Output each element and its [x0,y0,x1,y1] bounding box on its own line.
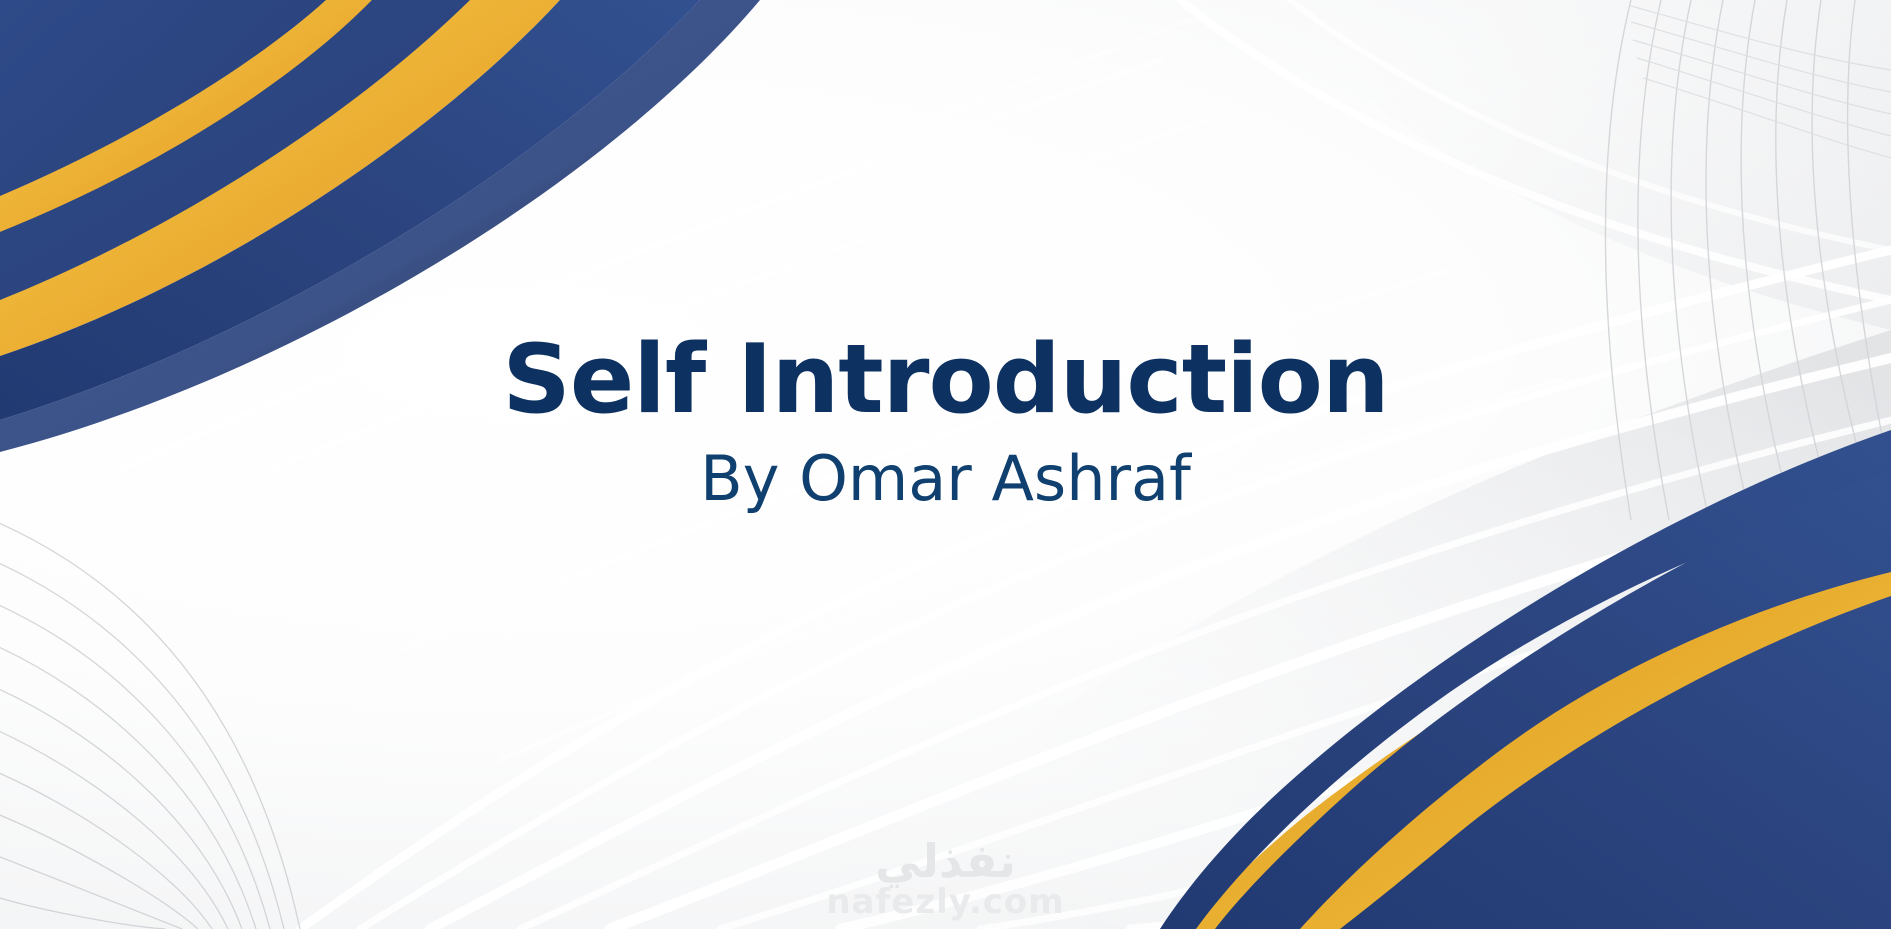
slide-content: Self Introduction By Omar Ashraf [0,330,1891,513]
slide-subtitle: By Omar Ashraf [0,445,1891,513]
watermark-arabic-text: نفذلي [786,838,1106,884]
presentation-slide: Self Introduction By Omar Ashraf نفذلي n… [0,0,1891,929]
watermark: نفذلي nafezly.com [786,838,1106,921]
page-title: Self Introduction [0,330,1891,431]
watermark-domain-text: nafezly.com [786,884,1106,921]
